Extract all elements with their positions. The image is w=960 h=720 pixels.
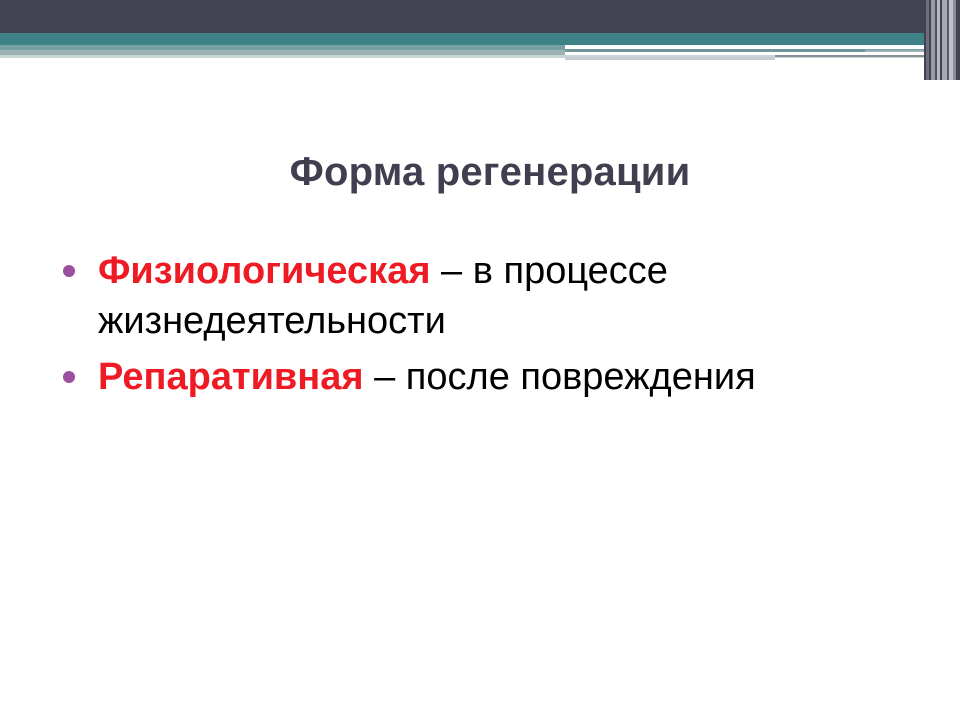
list-item: Физиологическая – в процессе жизнедеятел… xyxy=(60,246,890,346)
header-stripe xyxy=(956,0,960,80)
bullet-description: – после повреждения xyxy=(364,356,756,398)
header-rule-4 xyxy=(775,55,930,57)
page-title: Форма регенерации xyxy=(80,148,900,196)
header-vertical-stripes xyxy=(924,0,960,80)
header-band-dark xyxy=(0,0,960,33)
bullet-lead-term: Физиологическая xyxy=(98,250,431,292)
bullet-dot-icon xyxy=(63,265,75,277)
header-rule-7 xyxy=(565,60,780,64)
list-item: Репаративная – после повреждения xyxy=(60,352,890,402)
slide-header-decoration xyxy=(0,0,960,80)
bullet-list: Физиологическая – в процессе жизнедеятел… xyxy=(60,246,890,408)
header-band-teal xyxy=(0,33,960,45)
bullet-lead-term: Репаративная xyxy=(98,356,364,398)
bullet-dot-icon xyxy=(63,371,75,383)
header-rule-6 xyxy=(775,58,935,61)
